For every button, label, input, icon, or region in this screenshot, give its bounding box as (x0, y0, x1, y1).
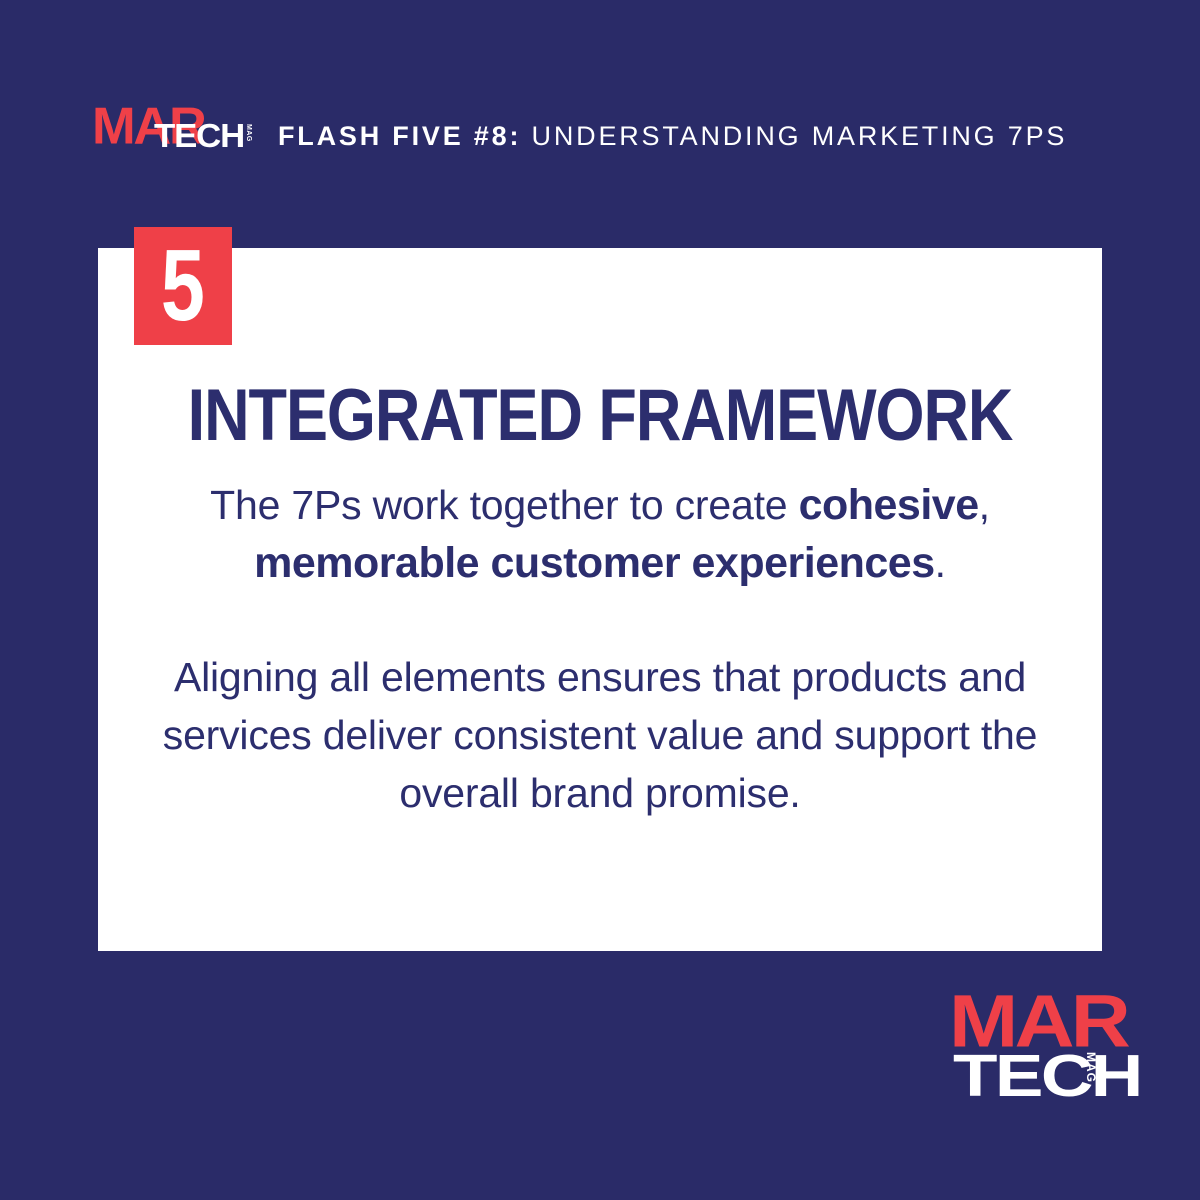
para1-lead-text: The 7Ps work together to create (210, 482, 798, 528)
content-card: 5 INTEGRATED FRAMEWORK The 7Ps work toge… (98, 248, 1102, 951)
logo-text-tech: TECH (154, 120, 244, 154)
logo-text-mag: MAG (245, 124, 252, 142)
card-title: INTEGRATED FRAMEWORK (73, 378, 1127, 454)
header-series-label: FLASH FIVE #8: (278, 121, 521, 151)
header-bar: MAR TECH MAG FLASH FIVE #8: UNDERSTANDIN… (92, 96, 1067, 154)
para1-emphasis-two: memorable customer experiences (254, 539, 935, 587)
martech-logo-header[interactable]: MAR TECH MAG (92, 98, 264, 154)
footer-logo-text-mag: MAG (1085, 1052, 1097, 1083)
paragraph-one: The 7Ps work together to create cohesive… (138, 476, 1062, 592)
para1-separator: , (979, 482, 990, 528)
card-body: The 7Ps work together to create cohesive… (138, 476, 1062, 822)
header-topic-label: UNDERSTANDING MARKETING 7PS (532, 121, 1068, 151)
para1-emphasis-one: cohesive (799, 481, 979, 529)
paragraph-two: Aligning all elements ensures that produ… (138, 648, 1062, 822)
header-title: FLASH FIVE #8: UNDERSTANDING MARKETING 7… (278, 121, 1067, 154)
martech-logo-footer[interactable]: MAR TECH MAG (949, 984, 1109, 1106)
slide-root: { "theme": { "background": "#2a2b68", "a… (0, 0, 1200, 1200)
step-number-value: 5 (161, 235, 205, 336)
para1-tail-text: . (935, 540, 946, 586)
footer-logo-text-tech: TECH (953, 1046, 1141, 1105)
step-number-badge: 5 (134, 227, 232, 345)
